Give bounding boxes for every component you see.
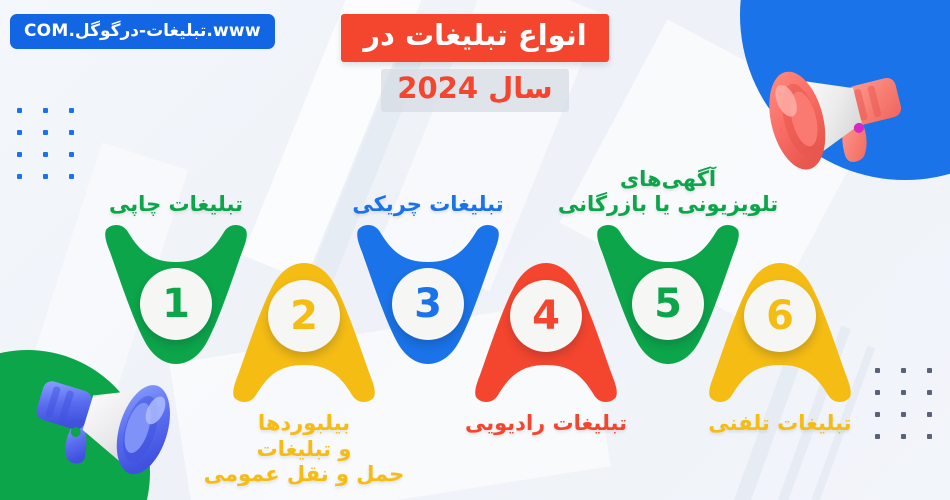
step-1-number: 1 (140, 268, 212, 340)
step-4-label: تبلیغات رادیویی (426, 411, 666, 437)
step-5-number: 5 (632, 268, 704, 340)
step-6-label: تبلیغات تلفنی (660, 411, 900, 437)
infographic-canvas: www.تبلیغات-درگوگل.COM انواع تبلیغات در … (0, 0, 950, 500)
step-6[interactable]: 6 تبلیغات تلفنی (700, 250, 860, 405)
watermark-badge[interactable]: www.تبلیغات-درگوگل.COM (10, 14, 275, 49)
step-2-label: بیلبوردها و تبلیغات حمل و نقل عمومی (184, 411, 424, 488)
step-1-label: تبلیغات چاپی (56, 192, 296, 218)
step-3-number: 3 (392, 268, 464, 340)
megaphone-blue-icon (12, 334, 187, 494)
title-line-1: انواع تبلیغات در (341, 14, 608, 62)
title-line-2: سال 2024 (381, 69, 568, 112)
step-4-number: 4 (510, 280, 582, 352)
step-2-number: 2 (268, 280, 340, 352)
step-6-number: 6 (744, 280, 816, 352)
step-3-label: تبلیغات چریکی (308, 192, 548, 218)
